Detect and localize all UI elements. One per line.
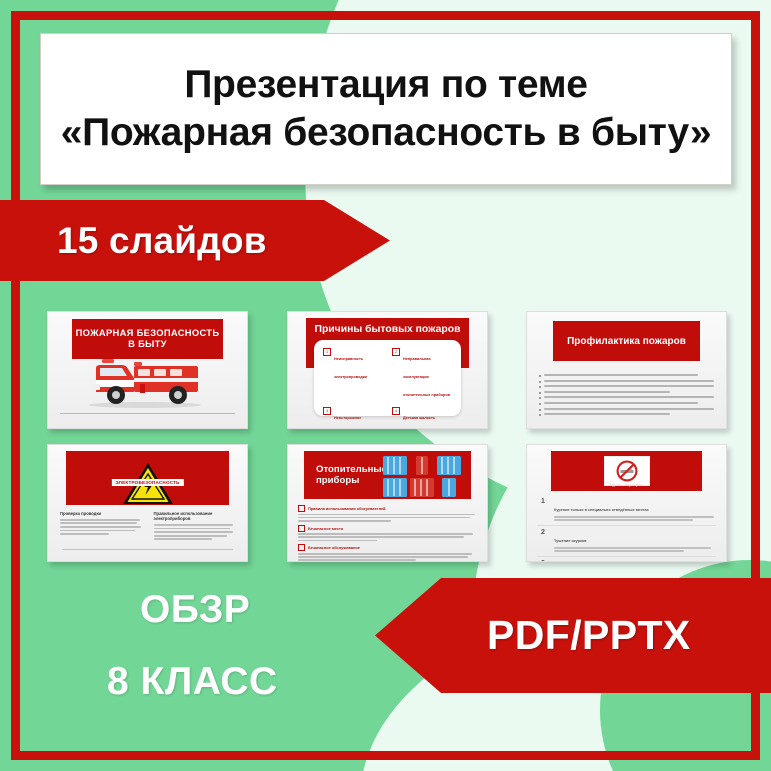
bullet-dot: [539, 375, 541, 377]
bullet-row: [539, 402, 714, 405]
slide-4-column: Проверка проводки: [60, 511, 142, 542]
slide-5-rows: Правила использования обогревателей Безо…: [298, 505, 477, 562]
slide-6-row: 3 Курение лёжа и в квартире запрещено: [537, 557, 716, 562]
slide-4-title: ЭЛЕКТРОБЕЗОПАСНОСТЬ: [111, 479, 183, 486]
slide-4-title-band: ЭЛЕКТРОБЕЗОПАСНОСТЬ: [66, 451, 229, 505]
format-banner: PDF/PPTX: [375, 578, 771, 693]
bullet-row: [539, 385, 714, 388]
item-body: Неправильная эксплуатация отопительных п…: [403, 347, 452, 401]
thumbnail-slide-5[interactable]: Отопительные приборы: [287, 444, 488, 562]
bullet-text: [544, 396, 714, 398]
radiator-icon: [442, 478, 456, 497]
radiator-icon-group: [383, 456, 461, 497]
checkbox-icon: [298, 544, 305, 551]
poster-canvas: Презентация по теме «Пожарная безопаснос…: [0, 0, 771, 771]
slide-6-row: 1 Курение только в специально отведённых…: [537, 495, 716, 526]
format-label: PDF/PPTX: [375, 612, 691, 659]
column-heading: Проверка проводки: [60, 511, 142, 516]
row-number: 1: [537, 498, 549, 522]
bullet-row: [539, 408, 714, 411]
checkbox-icon: [298, 525, 305, 532]
slide-4-canvas: ЭЛЕКТРОБЕЗОПАСНОСТЬ Проверка проводки Пр…: [48, 445, 247, 561]
row-header: Безопасное место: [298, 525, 477, 532]
no-smoking-sign: [604, 456, 650, 486]
bullet-dot: [539, 397, 541, 399]
course-label: ОБЗР: [140, 588, 250, 632]
grade-label: 8 КЛАСС: [107, 660, 278, 704]
item-heading: Неосторожное обращение с огнём: [334, 416, 371, 429]
bullet-row: [539, 413, 714, 416]
bullet-row: [539, 374, 714, 377]
item-body: Неисправность электропроводки: [334, 347, 383, 401]
row-heading: Безопасное обслуживание: [308, 545, 360, 550]
bullet-row: [539, 380, 714, 383]
slide-3-title: Профилактика пожаров: [567, 336, 686, 347]
thumbnail-slide-6[interactable]: Курить запрещено 1 Курение только в спец…: [526, 444, 727, 562]
checkbox-icon: [298, 505, 305, 512]
slide-2-title: Причины бытовых пожаров: [314, 324, 460, 335]
slide-5-row: Безопасное обслуживание: [298, 544, 477, 561]
row-number: 2: [537, 529, 549, 553]
row-body: Тушение окурков: [554, 529, 716, 553]
bullet-text: [544, 408, 714, 410]
item-heading: Детская шалость: [403, 416, 435, 420]
bullet-dot: [539, 381, 541, 383]
slide-5-title-band: Отопительные приборы: [304, 451, 471, 499]
slide-5-canvas: Отопительные приборы: [288, 445, 487, 561]
item-number: 1: [323, 348, 331, 356]
thumbnail-slide-4[interactable]: ЭЛЕКТРОБЕЗОПАСНОСТЬ Проверка проводки Пр…: [47, 444, 248, 562]
row-heading: Правила использования обогревателей: [308, 506, 386, 511]
slide-6-canvas: Курить запрещено 1 Курение только в спец…: [527, 445, 726, 561]
slide-count-banner: 15 слайдов: [0, 200, 390, 281]
bullet-dot: [539, 392, 541, 394]
item-heading: Неисправность электропроводки: [334, 357, 367, 379]
row-header: Безопасное обслуживание: [298, 544, 477, 551]
slide-5-row: Безопасное место: [298, 525, 477, 542]
row-heading: Тушение окурков: [554, 539, 586, 543]
fire-truck-icon: [82, 348, 208, 410]
radiator-icon: [416, 456, 428, 475]
slide-5-title-line-2: приборы: [316, 475, 387, 486]
page-title: Презентация по теме «Пожарная безопаснос…: [53, 61, 720, 156]
slide-2-canvas: Причины бытовых пожаров 1 Неисправность …: [288, 312, 487, 428]
thumbnail-slide-2[interactable]: Причины бытовых пожаров 1 Неисправность …: [287, 311, 488, 429]
slide-6-rows: 1 Курение только в специально отведённых…: [537, 495, 716, 562]
bullet-text: [544, 380, 714, 382]
item-body: Неосторожное обращение с огнём: [334, 406, 383, 429]
slide-1-floor-line: [60, 413, 235, 414]
row-heading: Безопасное место: [308, 526, 343, 531]
slide-2-item: 1 Неисправность электропроводки: [323, 347, 383, 401]
radiator-icon: [437, 456, 461, 475]
item-heading: Неправильная эксплуатация отопительных п…: [403, 357, 450, 397]
slide-5-title: Отопительные приборы: [304, 464, 387, 486]
bullet-dot: [539, 403, 541, 405]
column-heading: Правильное использование электроприборов: [154, 511, 236, 522]
row-body: Курение лёжа и в квартире запрещено: [554, 560, 716, 562]
slide-2-item: 2 Неправильная эксплуатация отопительных…: [392, 347, 452, 401]
item-body: Детская шалость: [403, 406, 452, 429]
radiator-icon: [410, 478, 434, 497]
slide-2-item: 4 Детская шалость: [392, 406, 452, 429]
bullet-text: [544, 391, 670, 393]
slide-3-bullet-list: [539, 374, 714, 419]
slide-6-row: 2 Тушение окурков: [537, 526, 716, 557]
slide-6-caption: Курить запрещено: [610, 483, 643, 487]
slide-thumbnail-grid: ПОЖАРНАЯ БЕЗОПАСНОСТЬ В БЫТУ: [47, 311, 727, 562]
slide-1-canvas: ПОЖАРНАЯ БЕЗОПАСНОСТЬ В БЫТУ: [48, 312, 247, 428]
slide-2-content-card: 1 Неисправность электропроводки 2 Н: [314, 340, 461, 416]
no-smoking-icon: [615, 459, 639, 483]
bullet-row: [539, 391, 714, 394]
bullet-row: [539, 396, 714, 399]
bullet-text: [544, 385, 714, 387]
bullet-dot: [539, 409, 541, 411]
slide-2-item: 3 Неосторожное обращение с огнём: [323, 406, 383, 429]
bullet-dot: [539, 414, 541, 416]
row-header: Правила использования обогревателей: [298, 505, 477, 512]
slide-4-divider: [62, 549, 233, 550]
item-number: 4: [392, 407, 400, 415]
row-body: Курение только в специально отведённых м…: [554, 498, 716, 522]
bullet-dot: [539, 386, 541, 388]
slide-4-column: Правильное использование электроприборов: [154, 511, 236, 542]
slide-3-title-band: Профилактика пожаров: [553, 321, 700, 361]
slide-4-columns: Проверка проводки Правильное использован…: [60, 511, 235, 542]
slide-3-canvas: Профилактика пожаров: [527, 312, 726, 428]
item-number: 2: [392, 348, 400, 356]
slide-5-row: Правила использования обогревателей: [298, 505, 477, 522]
radiator-icon: [383, 456, 407, 475]
title-line-2: «Пожарная безопасность в быту»: [61, 109, 712, 157]
title-line-1: Презентация по теме: [61, 61, 712, 109]
item-number: 3: [323, 407, 331, 415]
slide-6-title-band: Курить запрещено: [551, 451, 702, 491]
bullet-text: [544, 374, 698, 376]
bullet-text: [544, 413, 670, 415]
thumbnail-slide-3[interactable]: Профилактика пожаров: [526, 311, 727, 429]
radiator-icon: [383, 478, 407, 497]
bullet-text: [544, 402, 698, 404]
slide-count-label: 15 слайдов: [0, 220, 267, 262]
row-heading: Курение только в специально отведённых м…: [554, 508, 649, 512]
thumbnail-slide-1[interactable]: ПОЖАРНАЯ БЕЗОПАСНОСТЬ В БЫТУ: [47, 311, 248, 429]
row-number: 3: [537, 560, 549, 562]
title-card: Презентация по теме «Пожарная безопаснос…: [40, 33, 732, 185]
slide-5-title-line-1: Отопительные: [316, 464, 387, 475]
